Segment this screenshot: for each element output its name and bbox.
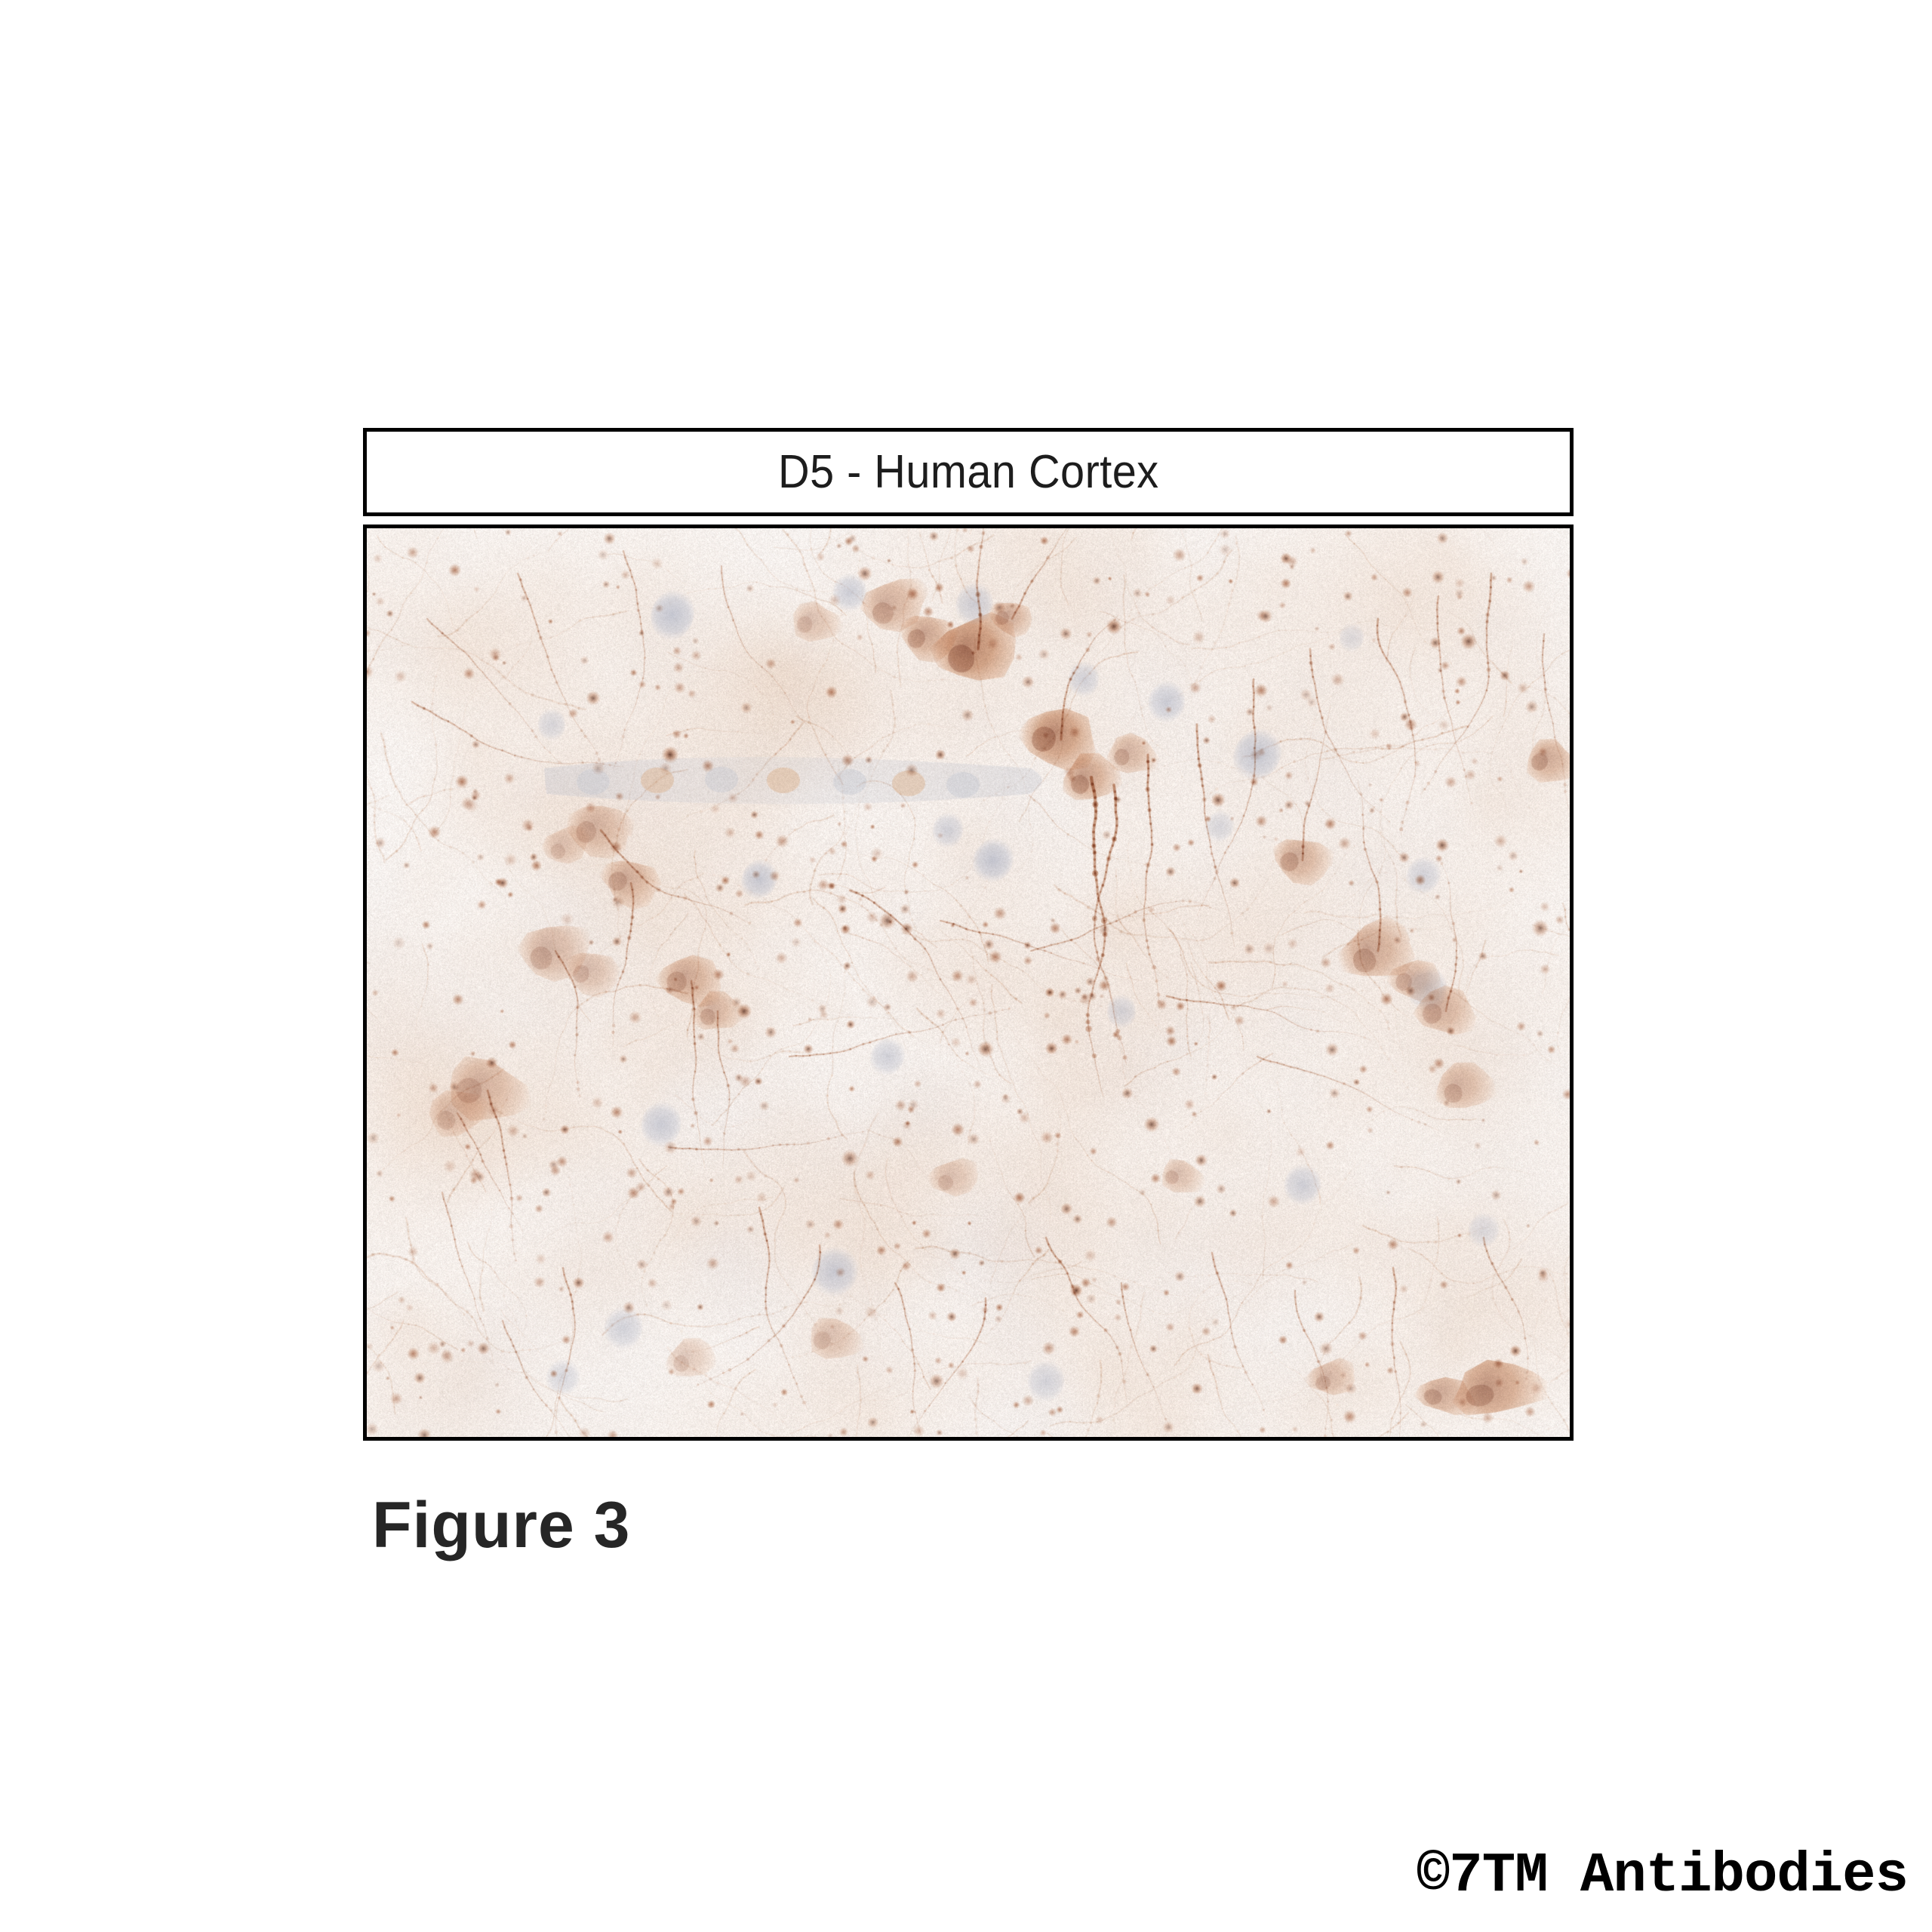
micrograph-frame: [363, 525, 1574, 1441]
figure-caption: Figure 3: [372, 1488, 631, 1563]
figure-header-title: D5 - Human Cortex: [778, 449, 1159, 496]
figure-panel: D5 - Human Cortex: [363, 428, 1574, 1441]
micrograph-image: [367, 528, 1570, 1437]
figure-header-box: D5 - Human Cortex: [363, 428, 1574, 516]
copyright-notice: ©7TM Antibodies: [1417, 1844, 1908, 1908]
